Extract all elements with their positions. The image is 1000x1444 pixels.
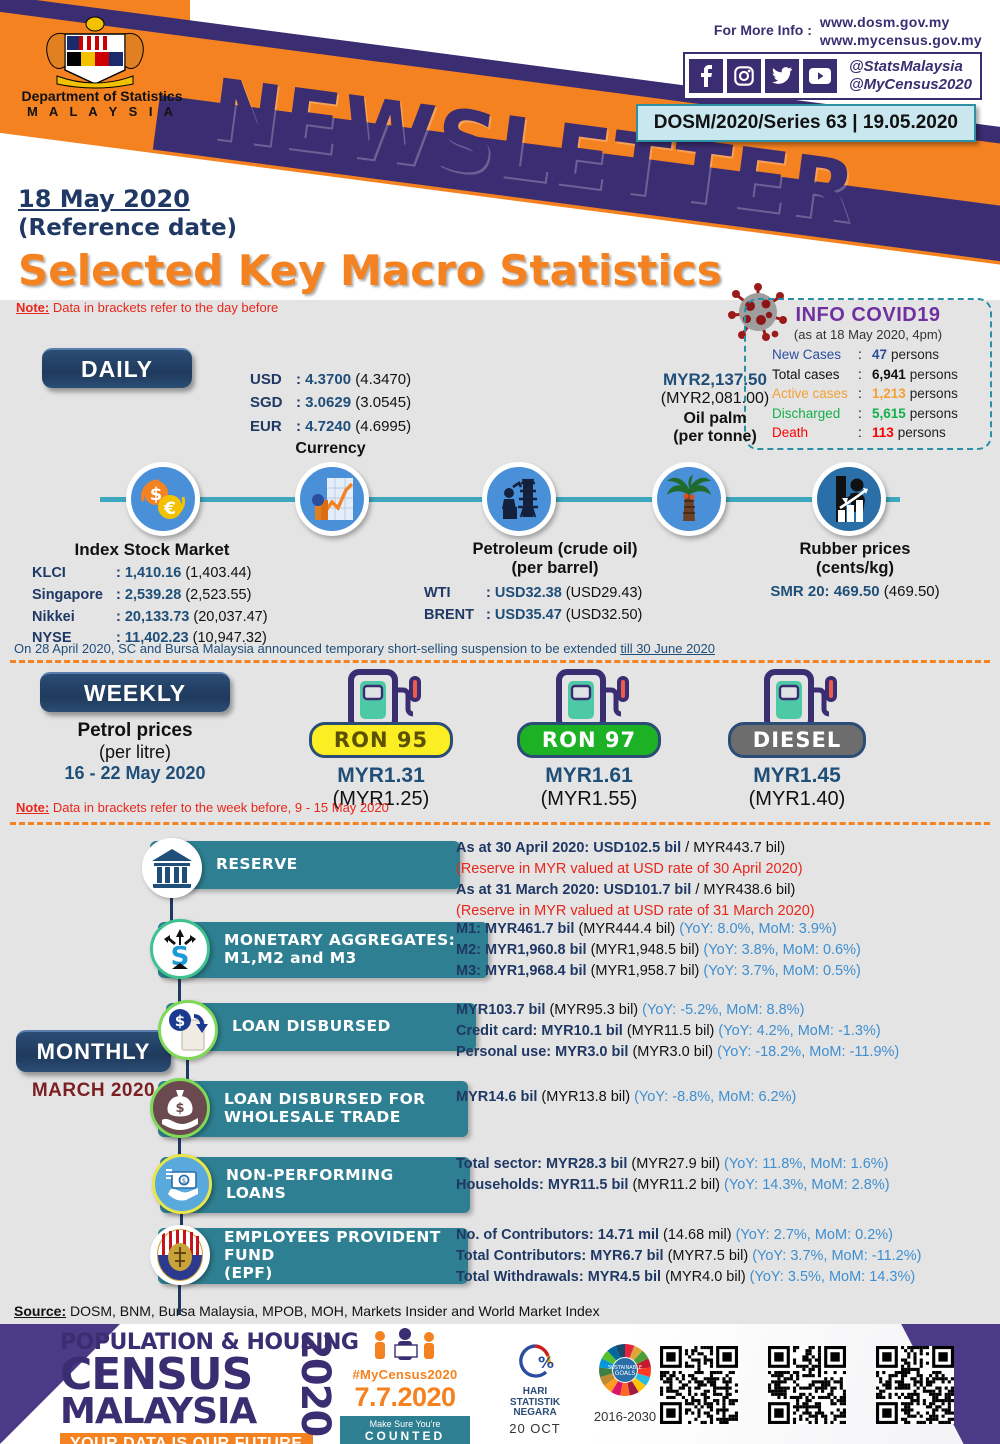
mycensus-url[interactable]: www.mycensus.gov.my xyxy=(820,32,982,50)
monthly-item-label: MONETARY AGGREGATES:M1,M2 and M3 xyxy=(224,932,455,968)
fuel-name-badge: RON 95 xyxy=(309,722,453,758)
fuel-price-card: RON 97MYR1.61(MYR1.55) xyxy=(504,668,674,811)
petrol-period: 16 - 22 May 2020 xyxy=(30,763,240,784)
petroleum-block: Petroleum (crude oil) (per barrel) WTI: … xyxy=(420,540,690,627)
row-prev: (3.0545) xyxy=(355,394,411,411)
hari-statistik-icon: % xyxy=(508,1342,562,1382)
monthly-value-line: Total Contributors: MYR6.7 bil (MYR7.5 b… xyxy=(456,1246,921,1267)
monthly-value-line: Total Withdrawals: MYR4.5 bil (MYR4.0 bi… xyxy=(456,1267,921,1288)
petrol-subtitle: (per litre) xyxy=(30,742,240,763)
fuel-price: MYR1.31 xyxy=(296,764,466,788)
page-title: Selected Key Macro Statistics xyxy=(18,246,722,295)
monthly-value-line: Credit card: MYR10.1 bil (MYR11.5 bil) (… xyxy=(456,1021,899,1042)
row-value: 4.7240 xyxy=(305,418,351,435)
currency-row: EUR: 4.7240 (4.6995) xyxy=(250,415,411,438)
weekly-note: Note: Data in brackets refer to the week… xyxy=(16,800,389,815)
covid-colon: : xyxy=(858,423,872,443)
fuel-prev-price: (MYR1.40) xyxy=(712,788,882,811)
weekly-note-text: Data in brackets refer to the week befor… xyxy=(49,800,389,815)
row-label: WTI xyxy=(424,582,486,604)
monthly-item-label: EMPLOYEES PROVIDENT FUND(EPF) xyxy=(224,1229,468,1282)
rubber-title-line1: Rubber prices xyxy=(740,540,970,559)
petroleum-row: BRENT: USD35.47 (USD32.50) xyxy=(424,604,690,626)
department-name: Department of Statistics xyxy=(12,88,192,104)
short-selling-note-date: till 30 June 2020 xyxy=(620,641,715,656)
row-prev: (USD32.50) xyxy=(566,607,643,623)
monthly-value-line: Total sector: MYR28.3 bil (MYR27.9 bil) … xyxy=(456,1154,890,1175)
covid-value: 47 xyxy=(872,345,887,365)
monthly-value-line: MYR14.6 bil (MYR13.8 bil) (YoY: -8.8%, M… xyxy=(456,1087,796,1108)
covid-unit: persons xyxy=(910,404,958,424)
monthly-item-label: LOAN DISBURSED FORWHOLESALE TRADE xyxy=(224,1091,426,1127)
petroleum-row: WTI: USD32.38 (USD29.43) xyxy=(424,582,690,604)
rubber-title-line2: (cents/kg) xyxy=(740,559,970,578)
monthly-value-line: Personal use: MYR3.0 bil (MYR3.0 bil) (Y… xyxy=(456,1042,899,1063)
mycensus-hashtag: #MyCensus2020 xyxy=(340,1367,470,1382)
reference-date-label: (Reference date) xyxy=(18,215,237,241)
rubber-value: SMR 20: 469.50 xyxy=(770,583,879,600)
hari-date: 20 OCT xyxy=(495,1421,575,1436)
petrol-title-block: Petrol prices (per litre) 16 - 22 May 20… xyxy=(30,720,240,784)
covid-colon: : xyxy=(858,345,872,365)
stock-market-block: Index Stock Market KLCI: 1,410.16 (1,403… xyxy=(32,540,272,650)
svg-text:%: % xyxy=(538,1353,554,1372)
series-badge: DOSM/2020/Series 63 | 19.05.2020 xyxy=(636,104,976,142)
stock-row: KLCI: 1,410.16 (1,403.44) xyxy=(32,563,272,585)
oil-palm-block: MYR2,137.50 (MYR2,081.00) Oil palm (per … xyxy=(615,370,815,446)
petroleum-title-line2: (per barrel) xyxy=(420,559,690,578)
monthly-value-line: M2: MYR1,960.8 bil (MYR1,948.5 bil) (YoY… xyxy=(456,940,861,961)
currency-block: USD: 4.3700 (4.3470)SGD: 3.0629 (3.0545)… xyxy=(250,368,411,458)
row-colon: : xyxy=(116,587,125,603)
monthly-item-values: MYR14.6 bil (MYR13.8 bil) (YoY: -8.8%, M… xyxy=(456,1087,796,1108)
hari-line3: NEGARA xyxy=(513,1407,556,1418)
non-performing-loans-icon: $ xyxy=(152,1154,212,1214)
row-prev: (20,037.47) xyxy=(193,609,267,625)
more-info-urls: www.dosm.gov.my www.mycensus.gov.my xyxy=(820,14,982,49)
social-handles: @StatsMalaysia @MyCensus2020 xyxy=(849,58,972,94)
hari-line2: STATISTIK xyxy=(510,1397,560,1408)
palm-tree-icon xyxy=(652,462,726,536)
monthly-value-line: No. of Contributors: 14.71 mil (14.68 mi… xyxy=(456,1225,921,1246)
currency-rows: USD: 4.3700 (4.3470)SGD: 3.0629 (3.0545)… xyxy=(250,368,411,438)
counted-line2: COUNTED xyxy=(340,1429,470,1443)
oil-palm-title-line2: (per tonne) xyxy=(615,428,815,446)
census-tagline: YOUR DATA IS OUR FUTURE xyxy=(60,1433,313,1444)
covid-row: New Cases:47persons xyxy=(746,345,990,365)
covid-colon: : xyxy=(858,365,872,385)
stock-market-title: Index Stock Market xyxy=(32,540,272,560)
petrol-title: Petrol prices xyxy=(30,720,240,742)
covid-unit: persons xyxy=(910,365,958,385)
row-prev: (1,403.44) xyxy=(185,565,251,581)
monthly-badge: MONTHLY xyxy=(16,1030,171,1072)
divider-daily-weekly xyxy=(10,660,990,663)
monthly-period: MARCH 2020 xyxy=(16,1080,171,1102)
row-value: 4.3700 xyxy=(305,371,351,388)
newsletter-page: NEWSLETTER Department of Statistics M A … xyxy=(0,0,1000,1444)
row-prev: (4.6995) xyxy=(355,418,411,435)
census-logo: POPULATION & HOUSING CENSUS MALAYSIA YOU… xyxy=(60,1330,358,1444)
loan-dollar-icon: $ xyxy=(158,1000,218,1060)
monthly-item-values: As at 30 April 2020: USD102.5 bil / MYR4… xyxy=(456,838,815,922)
row-colon: : xyxy=(486,585,495,601)
short-selling-note: On 28 April 2020, SC and Bursa Malaysia … xyxy=(14,641,715,656)
covid-colon: : xyxy=(858,404,872,424)
row-colon: : xyxy=(116,609,125,625)
covid-subtitle: (as at 18 May 2020, 4pm) xyxy=(746,327,990,342)
svg-text:$: $ xyxy=(175,1101,184,1116)
row-colon: : xyxy=(116,565,125,581)
sdg-logo: SUSTAINABLE GOALS 2016-2030 xyxy=(580,1342,670,1424)
petroleum-rows: WTI: USD32.38 (USD29.43)BRENT: USD35.47 … xyxy=(420,582,690,627)
fuel-prev-price: (MYR1.55) xyxy=(504,788,674,811)
social-links-box: @StatsMalaysia @MyCensus2020 xyxy=(683,52,982,100)
covid-colon: : xyxy=(858,384,872,404)
source-line: Source: DOSM, BNM, Bursa Malaysia, MPOB,… xyxy=(14,1303,600,1319)
covid-value: 1,213 xyxy=(872,384,906,404)
row-colon: : xyxy=(296,418,305,435)
hari-line1: HARI xyxy=(523,1386,547,1397)
census-year: 2020 xyxy=(292,1332,338,1435)
row-label: Nikkei xyxy=(32,607,116,629)
row-value: USD35.47 xyxy=(495,607,562,623)
fuel-price-card: DIESELMYR1.45(MYR1.40) xyxy=(712,668,882,811)
stock-row: Nikkei: 20,133.73 (20,037.47) xyxy=(32,607,272,629)
youtube-icon[interactable] xyxy=(803,59,837,93)
fuel-price: MYR1.45 xyxy=(712,764,882,788)
hari-text: HARI STATISTIK NEGARA xyxy=(495,1387,575,1419)
page-header: NEWSLETTER Department of Statistics M A … xyxy=(0,0,1000,300)
daily-note-prefix: Note: xyxy=(16,300,49,315)
row-label: BRENT xyxy=(424,604,486,626)
row-value: 1,410.16 xyxy=(125,565,181,581)
row-value: USD32.38 xyxy=(495,585,562,601)
monthly-item-values: No. of Contributors: 14.71 mil (14.68 mi… xyxy=(456,1225,921,1288)
oil-palm-value: MYR2,137.50 xyxy=(615,370,815,390)
source-prefix: Source: xyxy=(14,1303,66,1319)
monthly-item-label: RESERVE xyxy=(216,856,298,874)
hari-statistik-logo: % HARI STATISTIK NEGARA 20 OCT xyxy=(495,1342,575,1436)
covid-value: 6,941 xyxy=(872,365,906,385)
svg-text:$: $ xyxy=(175,1012,185,1030)
rubber-prev: (469.50) xyxy=(884,583,940,600)
row-colon: : xyxy=(296,371,305,388)
fuel-price-card: RON 95MYR1.31(MYR1.25) xyxy=(296,668,466,811)
fuel-price: MYR1.61 xyxy=(504,764,674,788)
handle-mycensus: @MyCensus2020 xyxy=(849,76,972,94)
row-value: 3.0629 xyxy=(305,394,351,411)
monthly-item-values: M1: MYR461.7 bil (MYR444.4 bil) (YoY: 8.… xyxy=(456,919,861,982)
divider-weekly-monthly xyxy=(10,822,990,825)
qr-code-census[interactable] xyxy=(876,1346,954,1424)
oil-palm-title-line1: Oil palm xyxy=(615,410,815,428)
malaysia-coat-of-arms-icon xyxy=(35,12,155,92)
bank-building-icon xyxy=(142,838,202,898)
covid-value: 5,615 xyxy=(872,404,906,424)
row-prev: (4.3470) xyxy=(355,371,411,388)
department-country: M A L A Y S I A xyxy=(12,104,192,119)
monthly-value-line: As at 31 March 2020: USD101.7 bil / MYR4… xyxy=(456,880,815,901)
row-colon: : xyxy=(486,607,495,623)
row-label: SGD xyxy=(250,391,296,414)
fuel-name-badge: RON 97 xyxy=(517,722,661,758)
row-colon: : xyxy=(296,394,305,411)
weekly-note-prefix: Note: xyxy=(16,800,49,815)
monthly-value-line: M1: MYR461.7 bil (MYR444.4 bil) (YoY: 8.… xyxy=(456,919,861,940)
monthly-value-line: MYR103.7 bil (MYR95.3 bil) (YoY: -5.2%, … xyxy=(456,1000,899,1021)
page-footer: POPULATION & HOUSING CENSUS MALAYSIA YOU… xyxy=(0,1324,1000,1444)
covid-unit: persons xyxy=(891,345,939,365)
currency-exchange-icon: $ € xyxy=(126,462,200,536)
daily-note: Note: Data in brackets refer to the day … xyxy=(16,300,278,315)
oil-palm-prev: (MYR2,081.00) xyxy=(615,390,815,408)
qr-code-dosm[interactable] xyxy=(660,1346,738,1424)
covid-label: New Cases xyxy=(772,345,858,365)
row-prev: (USD29.43) xyxy=(566,585,643,601)
short-selling-note-text: On 28 April 2020, SC and Bursa Malaysia … xyxy=(14,641,620,656)
mycensus-block: #MyCensus2020 7.7.2020 Make Sure You're … xyxy=(340,1328,470,1444)
currency-row: USD: 4.3700 (4.3470) xyxy=(250,368,411,391)
row-label: EUR xyxy=(250,415,296,438)
stock-row: Singapore: 2,539.28 (2,523.55) xyxy=(32,585,272,607)
dosm-url[interactable]: www.dosm.gov.my xyxy=(820,14,982,32)
currency-title: Currency xyxy=(250,440,411,458)
monthly-value-note: (Reserve in MYR valued at USD rate of 30… xyxy=(456,859,815,880)
rubber-value-row: SMR 20: 469.50 (469.50) xyxy=(740,583,970,600)
rubber-block: Rubber prices (cents/kg) SMR 20: 469.50 … xyxy=(740,540,970,600)
reference-date: 18 May 2020 xyxy=(18,185,190,213)
instagram-icon[interactable] xyxy=(727,59,761,93)
row-label: USD xyxy=(250,368,296,391)
oil-rig-icon xyxy=(482,462,556,536)
daily-badge: DAILY xyxy=(42,348,192,388)
monthly-item-values: Total sector: MYR28.3 bil (MYR27.9 bil) … xyxy=(456,1154,890,1196)
sdg-wheel-icon: SUSTAINABLE GOALS xyxy=(597,1342,653,1398)
rubber-tapper-icon xyxy=(812,462,886,536)
monthly-value-line: As at 30 April 2020: USD102.5 bil / MYR4… xyxy=(456,838,815,859)
monthly-item-values: MYR103.7 bil (MYR95.3 bil) (YoY: -5.2%, … xyxy=(456,1000,899,1063)
mycensus-date: 7.7.2020 xyxy=(340,1382,470,1413)
qr-code-facebook[interactable] xyxy=(768,1346,846,1424)
row-label: KLCI xyxy=(32,563,116,585)
covid-unit: persons xyxy=(910,384,958,404)
row-label: Singapore xyxy=(32,585,116,607)
counted-badge: Make Sure You're COUNTED xyxy=(340,1416,470,1444)
handle-statsmalaysia: @StatsMalaysia xyxy=(849,58,972,76)
row-value: 20,133.73 xyxy=(125,609,190,625)
covid-value: 113 xyxy=(872,423,894,443)
stock-market-rows: KLCI: 1,410.16 (1,403.44)Singapore: 2,53… xyxy=(32,563,272,650)
covid-title: INFO COVID19 xyxy=(746,304,990,327)
row-value: 2,539.28 xyxy=(125,587,181,603)
twitter-icon[interactable] xyxy=(765,59,799,93)
monthly-value-line: Households: MYR11.5 bil (MYR11.2 bil) (Y… xyxy=(456,1175,890,1196)
petroleum-title-line1: Petroleum (crude oil) xyxy=(420,540,690,559)
monthly-item-label: LOAN DISBURSED xyxy=(232,1018,391,1036)
currency-row: SGD: 3.0629 (3.0545) xyxy=(250,391,411,414)
svg-text:GOALS: GOALS xyxy=(615,1370,636,1377)
money-supply-icon: S xyxy=(150,919,210,979)
counted-line1: Make Sure You're xyxy=(370,1419,441,1429)
covid-unit: persons xyxy=(898,423,946,443)
more-info-label: For More Info : xyxy=(714,14,812,38)
monthly-item-label: NON-PERFORMINGLOANS xyxy=(226,1167,394,1203)
facebook-icon[interactable] xyxy=(689,59,723,93)
monthly-value-line: M3: MYR1,968.4 bil (MYR1,958.7 bil) (YoY… xyxy=(456,961,861,982)
money-bag-hand-icon: $ xyxy=(150,1078,210,1138)
more-info-block: For More Info : www.dosm.gov.my www.myce… xyxy=(714,14,982,49)
fuel-name-badge: DIESEL xyxy=(728,722,866,758)
stock-chart-icon xyxy=(295,462,369,536)
source-text: DOSM, BNM, Bursa Malaysia, MPOB, MOH, Ma… xyxy=(66,1303,599,1319)
epf-logo-icon xyxy=(150,1225,210,1285)
sdg-date: 2016-2030 xyxy=(580,1409,670,1424)
svg-text:$: $ xyxy=(182,1177,186,1185)
row-prev: (2,523.55) xyxy=(185,587,251,603)
census-people-icon xyxy=(368,1328,442,1362)
daily-note-text: Data in brackets refer to the day before xyxy=(49,300,278,315)
weekly-badge: WEEKLY xyxy=(40,672,230,712)
